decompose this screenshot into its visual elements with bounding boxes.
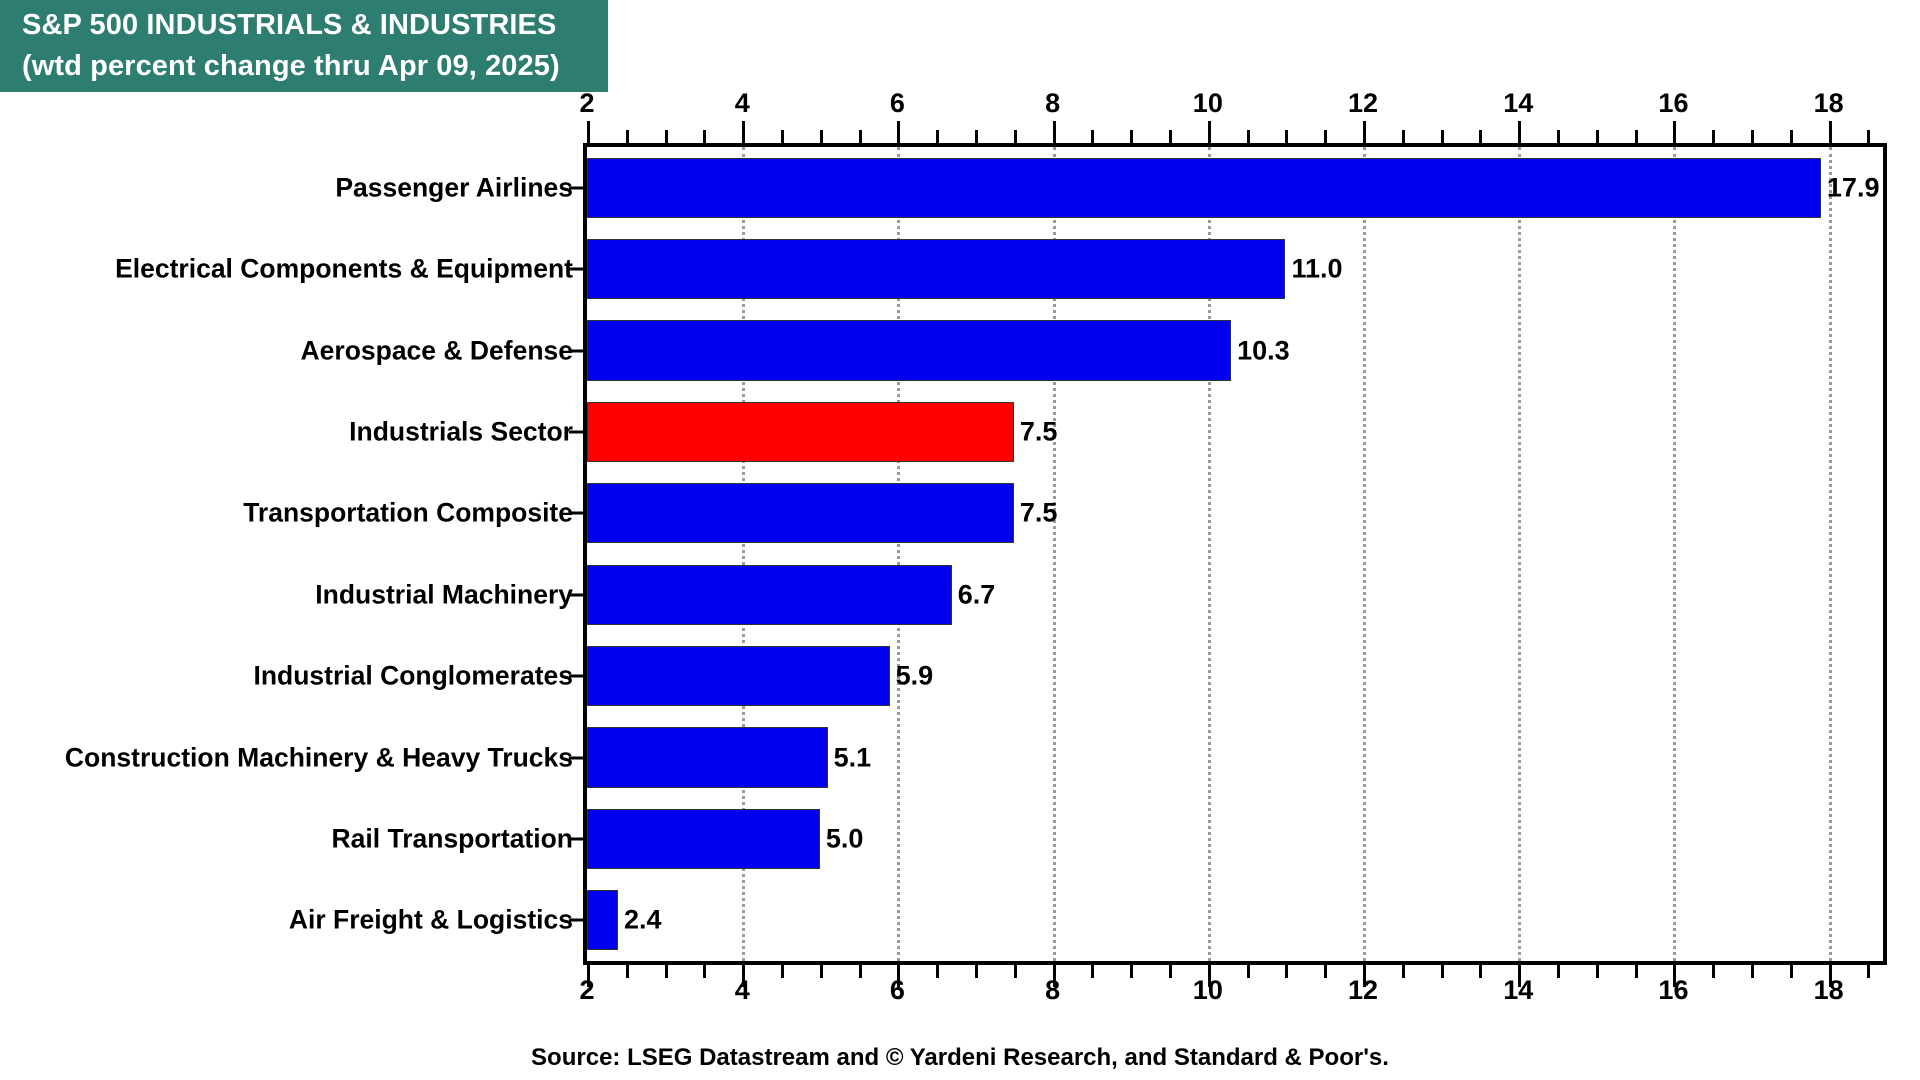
tick-top xyxy=(1751,130,1754,143)
tick-bottom xyxy=(1712,965,1715,978)
tick-bottom xyxy=(1169,965,1172,978)
x-tick-top-12: 12 xyxy=(1348,88,1378,119)
category-tick-1 xyxy=(569,268,583,271)
x-tick-top-16: 16 xyxy=(1658,88,1688,119)
tick-bottom xyxy=(1324,965,1327,978)
tick-bottom xyxy=(1014,965,1017,978)
tick-top xyxy=(936,130,939,143)
category-tick-2 xyxy=(569,349,583,352)
category-label-8: Rail Transportation xyxy=(332,823,573,854)
category-tick-5 xyxy=(569,593,583,596)
chart-title-box: S&P 500 INDUSTRIALS & INDUSTRIES (wtd pe… xyxy=(0,0,608,92)
x-tick-top-8: 8 xyxy=(1045,88,1060,119)
bar-value-label: 5.9 xyxy=(890,661,934,692)
category-label-7: Construction Machinery & Heavy Trucks xyxy=(65,742,573,773)
bar-7[interactable] xyxy=(587,727,828,787)
tick-bottom xyxy=(859,965,862,978)
tick-top xyxy=(1712,130,1715,143)
bar-row xyxy=(587,646,1883,706)
category-label-3: Industrials Sector xyxy=(349,416,573,447)
bar-0[interactable] xyxy=(587,158,1821,218)
tick-bottom xyxy=(1479,965,1482,978)
chart-title-line-2: (wtd percent change thru Apr 09, 2025) xyxy=(22,46,594,87)
tick-top xyxy=(1169,130,1172,143)
bar-value-label: 11.0 xyxy=(1285,254,1342,285)
tick-bottom xyxy=(626,965,629,978)
tick-top xyxy=(781,130,784,143)
tick-top xyxy=(1557,130,1560,143)
category-label-5: Industrial Machinery xyxy=(315,579,573,610)
tick-top xyxy=(1596,130,1599,143)
x-tick-top-14: 14 xyxy=(1503,88,1533,119)
category-tick-8 xyxy=(569,837,583,840)
tick-bottom xyxy=(1363,965,1366,987)
tick-top xyxy=(859,130,862,143)
bar-value-label: 2.4 xyxy=(618,905,662,936)
tick-top xyxy=(1324,130,1327,143)
tick-bottom xyxy=(1518,965,1521,987)
category-tick-9 xyxy=(569,919,583,922)
plot-inner xyxy=(587,147,1883,961)
tick-bottom xyxy=(1402,965,1405,978)
category-tick-4 xyxy=(569,512,583,515)
tick-top xyxy=(1829,121,1832,143)
bar-value-label: 10.3 xyxy=(1231,335,1290,366)
tick-bottom xyxy=(1053,965,1056,987)
tick-top xyxy=(1518,121,1521,143)
tick-bottom xyxy=(1867,965,1870,978)
tick-bottom xyxy=(781,965,784,978)
tick-top xyxy=(1790,130,1793,143)
bar-row xyxy=(587,727,1883,787)
bar-value-label: 5.0 xyxy=(820,823,864,854)
chart-title-line-1: S&P 500 INDUSTRIALS & INDUSTRIES xyxy=(22,5,594,46)
bar-9[interactable] xyxy=(587,890,618,950)
bar-row xyxy=(587,158,1883,218)
x-tick-top-10: 10 xyxy=(1193,88,1223,119)
tick-bottom xyxy=(975,965,978,978)
category-tick-7 xyxy=(569,756,583,759)
tick-bottom xyxy=(703,965,706,978)
tick-bottom xyxy=(1441,965,1444,978)
tick-top xyxy=(703,130,706,143)
plot-area xyxy=(583,143,1887,965)
tick-top xyxy=(1363,121,1366,143)
bar-row xyxy=(587,239,1883,299)
tick-top xyxy=(1867,130,1870,143)
tick-top xyxy=(665,130,668,143)
bar-4[interactable] xyxy=(587,483,1014,543)
x-tick-top-2: 2 xyxy=(579,88,594,119)
bar-6[interactable] xyxy=(587,646,890,706)
tick-bottom xyxy=(1247,965,1250,978)
tick-bottom xyxy=(1091,965,1094,978)
tick-bottom xyxy=(1596,965,1599,978)
tick-top xyxy=(897,121,900,143)
tick-bottom xyxy=(742,965,745,987)
tick-bottom xyxy=(1130,965,1133,978)
bar-value-label: 5.1 xyxy=(828,742,872,773)
category-label-0: Passenger Airlines xyxy=(335,172,573,203)
tick-bottom xyxy=(1673,965,1676,987)
tick-bottom xyxy=(820,965,823,978)
category-label-1: Electrical Components & Equipment xyxy=(115,254,573,285)
tick-top xyxy=(1130,130,1133,143)
tick-bottom xyxy=(1635,965,1638,978)
category-tick-3 xyxy=(569,430,583,433)
x-tick-top-4: 4 xyxy=(735,88,750,119)
category-tick-0 xyxy=(569,186,583,189)
tick-top xyxy=(1479,130,1482,143)
bar-value-label: 7.5 xyxy=(1014,416,1058,447)
tick-top xyxy=(626,130,629,143)
tick-top xyxy=(820,130,823,143)
tick-bottom xyxy=(1285,965,1288,978)
tick-top xyxy=(1053,121,1056,143)
bar-row xyxy=(587,483,1883,543)
bar-8[interactable] xyxy=(587,809,820,869)
tick-top xyxy=(587,121,590,143)
tick-bottom xyxy=(897,965,900,987)
chart-canvas: S&P 500 INDUSTRIALS & INDUSTRIES (wtd pe… xyxy=(0,0,1920,1080)
bar-row xyxy=(587,402,1883,462)
category-label-2: Aerospace & Defense xyxy=(301,335,573,366)
tick-top xyxy=(1014,130,1017,143)
category-tick-6 xyxy=(569,675,583,678)
tick-bottom xyxy=(936,965,939,978)
tick-top xyxy=(1635,130,1638,143)
tick-bottom xyxy=(1751,965,1754,978)
bar-1[interactable] xyxy=(587,239,1285,299)
tick-top xyxy=(742,121,745,143)
tick-bottom xyxy=(1829,965,1832,987)
tick-bottom xyxy=(665,965,668,978)
tick-top xyxy=(1208,121,1211,143)
category-label-9: Air Freight & Logistics xyxy=(289,905,573,936)
tick-top xyxy=(1402,130,1405,143)
bar-value-label: 7.5 xyxy=(1014,498,1058,529)
tick-top xyxy=(1247,130,1250,143)
x-tick-top-18: 18 xyxy=(1814,88,1844,119)
tick-bottom xyxy=(1790,965,1793,978)
tick-top xyxy=(975,130,978,143)
bar-row xyxy=(587,890,1883,950)
tick-bottom xyxy=(1557,965,1560,978)
tick-bottom xyxy=(1208,965,1211,987)
bar-row xyxy=(587,565,1883,625)
tick-top xyxy=(1441,130,1444,143)
tick-top xyxy=(1673,121,1676,143)
bar-value-label: 17.9 xyxy=(1821,172,1880,203)
bar-5[interactable] xyxy=(587,565,952,625)
tick-top xyxy=(1091,130,1094,143)
x-tick-top-6: 6 xyxy=(890,88,905,119)
tick-top xyxy=(1285,130,1288,143)
category-label-4: Transportation Composite xyxy=(243,498,573,529)
bar-row xyxy=(587,809,1883,869)
source-note: Source: LSEG Datastream and © Yardeni Re… xyxy=(0,1044,1920,1072)
tick-bottom xyxy=(587,965,590,987)
bar-2[interactable] xyxy=(587,320,1231,380)
category-label-6: Industrial Conglomerates xyxy=(253,661,573,692)
bar-value-label: 6.7 xyxy=(952,579,996,610)
bar-3[interactable] xyxy=(587,402,1014,462)
